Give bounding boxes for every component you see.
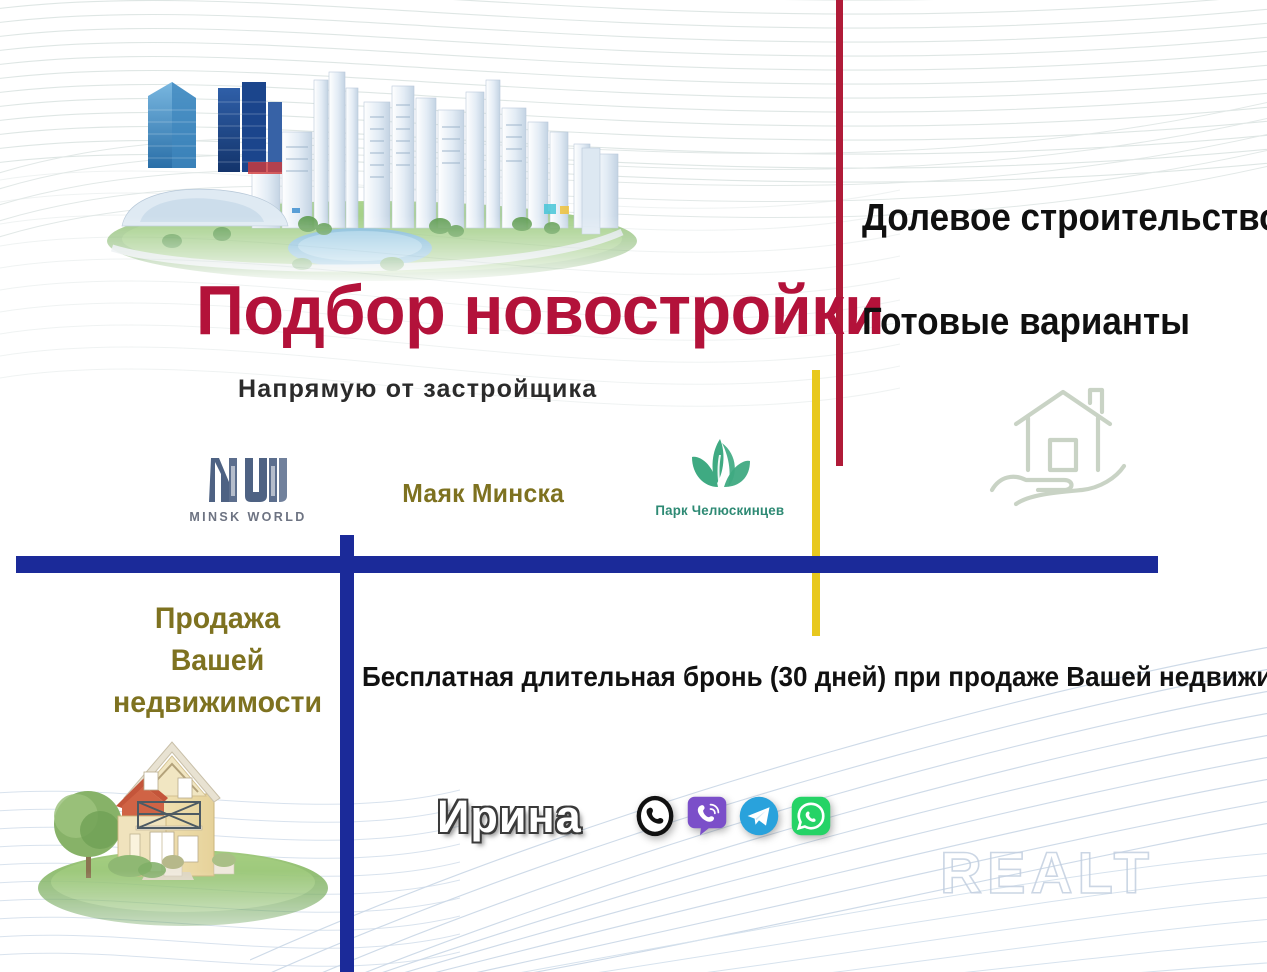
realt-watermark: REALT bbox=[940, 845, 1154, 903]
mw-monogram-icon bbox=[205, 452, 291, 506]
house-in-hand-icon bbox=[968, 378, 1158, 518]
developer-logo-mayak-minska: Маяк Минска bbox=[398, 478, 558, 509]
viber-icon[interactable] bbox=[686, 795, 728, 837]
leaf-icon bbox=[672, 435, 768, 501]
divider-vertical-red bbox=[836, 0, 843, 466]
developer-logo-label: Парк Челюскинцев bbox=[656, 502, 785, 518]
developer-logo-park-chelyuskintsev: Парк Челюскинцев bbox=[640, 435, 800, 520]
advertisement-poster: Подбор новостройки Напрямую от застройщи… bbox=[0, 0, 1267, 972]
developer-logo-label: Маяк Минска bbox=[402, 478, 564, 509]
benefit-line-1: Долевое строительство bbox=[862, 196, 1267, 240]
telegram-icon[interactable] bbox=[738, 795, 780, 837]
developer-logo-label: MINSK WORLD bbox=[189, 510, 306, 524]
agent-name: Ирина bbox=[437, 790, 582, 844]
whatsapp-icon[interactable] bbox=[790, 795, 832, 837]
benefit-line-2: Готовые варианты bbox=[862, 300, 1190, 344]
page-subtitle: Напрямую от застройщика bbox=[238, 374, 597, 404]
divider-vertical-yellow bbox=[812, 370, 820, 636]
skyline-render bbox=[52, 36, 672, 286]
divider-horizontal-blue bbox=[16, 556, 1158, 573]
page-title: Подбор новостройки bbox=[196, 271, 884, 349]
phone-icon[interactable] bbox=[634, 795, 676, 837]
cottage-illustration bbox=[18, 706, 348, 956]
developer-logo-minsk-world: MINSK WORLD bbox=[178, 452, 318, 526]
promo-text: Бесплатная длительная бронь (30 дней) пр… bbox=[362, 660, 1267, 694]
contact-channels bbox=[634, 795, 832, 837]
